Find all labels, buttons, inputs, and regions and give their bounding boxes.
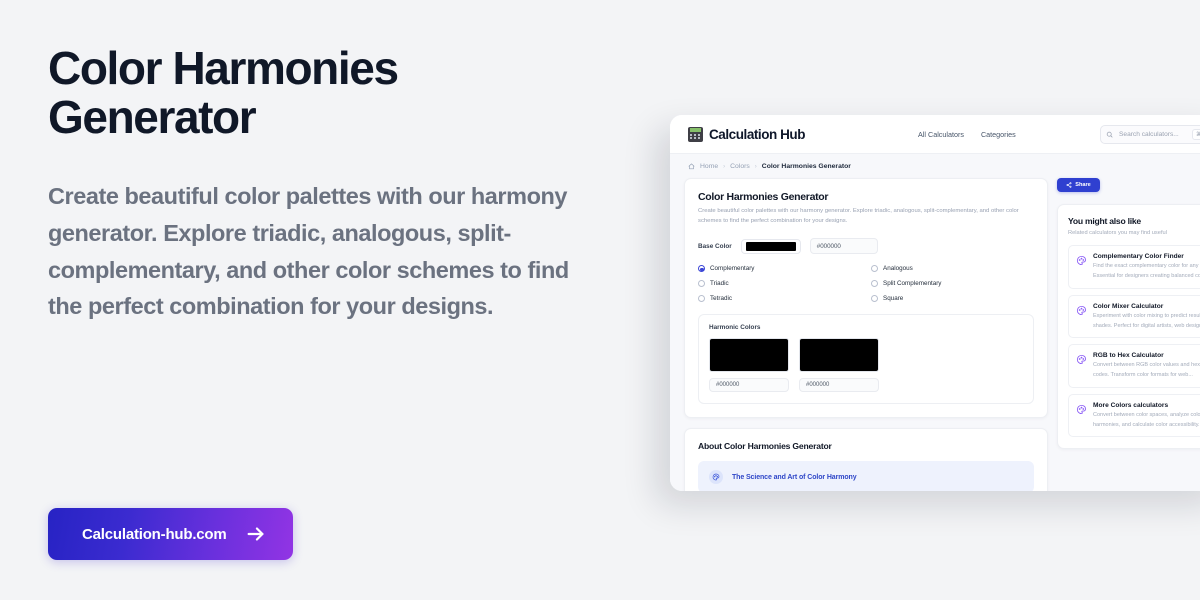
related-item-body: More Colors calculators Convert between … bbox=[1093, 402, 1200, 430]
radio-indicator bbox=[871, 295, 878, 302]
harmonic-colors-panel: Harmonic Colors #000000 #000000 bbox=[698, 314, 1034, 404]
search-shortcut-badge: ⌘K bbox=[1192, 129, 1200, 140]
harmonic-color-item: #000000 bbox=[709, 338, 789, 392]
related-item-body: Complementary Color Finder Find the exac… bbox=[1093, 253, 1200, 281]
related-item-name: Color Mixer Calculator bbox=[1093, 303, 1200, 310]
related-item-more-colors-calculators[interactable]: More Colors calculators Convert between … bbox=[1068, 394, 1200, 438]
related-item-name: Complementary Color Finder bbox=[1093, 253, 1200, 260]
radio-indicator bbox=[698, 265, 705, 272]
related-item-rgb-to-hex-calculator[interactable]: RGB to Hex Calculator Convert between RG… bbox=[1068, 344, 1200, 388]
harmonic-color-hex[interactable]: #000000 bbox=[709, 378, 789, 392]
page-subtitle: Create beautiful color palettes with our… bbox=[48, 178, 596, 325]
radio-indicator bbox=[698, 280, 705, 287]
radio-label: Tetradic bbox=[710, 295, 732, 302]
harmonic-colors-title: Harmonic Colors bbox=[709, 324, 1023, 331]
harmonic-color-swatch[interactable] bbox=[709, 338, 789, 372]
cta-label: Calculation-hub.com bbox=[82, 526, 227, 543]
radio-label: Triadic bbox=[710, 280, 729, 287]
related-item-body: Color Mixer Calculator Experiment with c… bbox=[1093, 303, 1200, 331]
search-icon bbox=[1106, 131, 1113, 138]
nav-item-all-calculators[interactable]: All Calculators bbox=[918, 130, 964, 139]
breadcrumb: Home › Colors › Color Harmonies Generato… bbox=[670, 154, 1200, 178]
generator-title: Color Harmonies Generator bbox=[698, 191, 1034, 203]
page-body: Color Harmonies Generator Create beautif… bbox=[670, 178, 1200, 491]
palette-icon bbox=[1076, 255, 1087, 266]
related-item-desc-line: harmonies, and calculate color accessibi… bbox=[1093, 421, 1200, 429]
related-item-name: More Colors calculators bbox=[1093, 402, 1200, 409]
site-logo[interactable]: Calculation Hub bbox=[688, 127, 805, 142]
logo-text: Calculation Hub bbox=[709, 127, 805, 142]
scheme-radio-group: Complementary Analogous Triadic Spl bbox=[698, 265, 1034, 302]
main-column: Color Harmonies Generator Create beautif… bbox=[684, 178, 1048, 491]
harmonic-color-swatch[interactable] bbox=[799, 338, 879, 372]
share-button-label: Share bbox=[1075, 182, 1091, 188]
about-panel-label: The Science and Art of Color Harmony bbox=[732, 474, 857, 481]
search-input[interactable]: Search calculators... ⌘K bbox=[1100, 125, 1200, 144]
nav-item-categories[interactable]: Categories bbox=[981, 130, 1016, 139]
base-color-picker[interactable] bbox=[741, 239, 801, 254]
radio-option-analogous[interactable]: Analogous bbox=[871, 265, 1034, 272]
share-button[interactable]: Share bbox=[1057, 178, 1100, 192]
radio-label: Analogous bbox=[883, 265, 913, 272]
related-item-desc-line: Essential for designers creating balance… bbox=[1093, 272, 1200, 280]
breadcrumb-item-home[interactable]: Home bbox=[700, 163, 718, 170]
harmonic-color-hex[interactable]: #000000 bbox=[799, 378, 879, 392]
radio-indicator bbox=[871, 265, 878, 272]
base-color-hex-input[interactable]: #000000 bbox=[810, 238, 878, 254]
search-placeholder: Search calculators... bbox=[1119, 131, 1179, 138]
arrow-right-icon bbox=[245, 523, 267, 545]
related-item-color-mixer-calculator[interactable]: Color Mixer Calculator Experiment with c… bbox=[1068, 295, 1200, 339]
radio-option-complementary[interactable]: Complementary bbox=[698, 265, 861, 272]
related-item-desc-line: Convert between RGB color values and hex… bbox=[1093, 361, 1200, 369]
about-title: About Color Harmonies Generator bbox=[698, 441, 1034, 451]
about-highlight-panel[interactable]: The Science and Art of Color Harmony bbox=[698, 461, 1034, 491]
breadcrumb-separator: › bbox=[755, 164, 757, 170]
radio-option-tetradic[interactable]: Tetradic bbox=[698, 295, 861, 302]
base-color-swatch bbox=[746, 242, 796, 251]
site-header: Calculation Hub All Calculators Categori… bbox=[670, 115, 1200, 154]
page-title: Color Harmonies Generator bbox=[48, 44, 468, 142]
related-item-desc-line: Convert between color spaces, analyze co… bbox=[1093, 411, 1200, 419]
radio-label: Split Complementary bbox=[883, 280, 941, 287]
related-subtitle: Related calculators you may find useful bbox=[1068, 230, 1200, 236]
harmonic-colors-row: #000000 #000000 bbox=[709, 338, 1023, 392]
related-list: Complementary Color Finder Find the exac… bbox=[1068, 245, 1200, 437]
app-screenshot-mockup: Calculation Hub All Calculators Categori… bbox=[670, 115, 1200, 491]
about-card: About Color Harmonies Generator The Scie… bbox=[684, 428, 1048, 491]
related-item-desc-line: shades. Perfect for digital artists, web… bbox=[1093, 322, 1200, 330]
radio-indicator bbox=[871, 280, 878, 287]
palette-icon-wrapper bbox=[709, 470, 723, 484]
related-title: You might also like bbox=[1068, 216, 1200, 226]
harmonic-color-item: #000000 bbox=[799, 338, 879, 392]
home-icon bbox=[688, 163, 695, 170]
share-nodes-icon bbox=[1066, 182, 1072, 188]
sidebar-column: Share You might also like Related calcul… bbox=[1057, 178, 1200, 491]
palette-icon bbox=[712, 473, 720, 481]
palette-icon bbox=[1076, 305, 1087, 316]
promo-panel: Color Harmonies Generator Create beautif… bbox=[48, 44, 628, 325]
radio-label: Complementary bbox=[710, 265, 754, 272]
radio-label: Square bbox=[883, 295, 903, 302]
related-item-desc-line: Find the exact complementary color for a… bbox=[1093, 262, 1200, 270]
generator-description: Create beautiful color palettes with our… bbox=[698, 207, 1034, 226]
breadcrumb-item-colors[interactable]: Colors bbox=[730, 163, 750, 170]
related-calculators-card: You might also like Related calculators … bbox=[1057, 204, 1200, 449]
related-item-name: RGB to Hex Calculator bbox=[1093, 352, 1200, 359]
base-color-label: Base Color bbox=[698, 243, 732, 250]
breadcrumb-separator: › bbox=[723, 164, 725, 170]
main-nav: All Calculators Categories bbox=[918, 130, 1016, 139]
mockup-viewport: Calculation Hub All Calculators Categori… bbox=[670, 115, 1200, 491]
related-item-body: RGB to Hex Calculator Convert between RG… bbox=[1093, 352, 1200, 380]
related-item-desc-line: Experiment with color mixing to predict … bbox=[1093, 312, 1200, 320]
palette-icon bbox=[1076, 354, 1087, 365]
cta-button[interactable]: Calculation-hub.com bbox=[48, 508, 293, 560]
radio-option-square[interactable]: Square bbox=[871, 295, 1034, 302]
radio-indicator bbox=[698, 295, 705, 302]
generator-card: Color Harmonies Generator Create beautif… bbox=[684, 178, 1048, 418]
related-item-complementary-color-finder[interactable]: Complementary Color Finder Find the exac… bbox=[1068, 245, 1200, 289]
breadcrumb-item-current: Color Harmonies Generator bbox=[762, 163, 851, 170]
calculator-icon bbox=[688, 127, 703, 142]
palette-icon bbox=[1076, 404, 1087, 415]
base-color-row: Base Color #000000 bbox=[698, 238, 1034, 254]
related-item-desc-line: codes. Transform color formats for web..… bbox=[1093, 371, 1200, 379]
radio-option-triadic[interactable]: Triadic bbox=[698, 280, 861, 287]
radio-option-split-complementary[interactable]: Split Complementary bbox=[871, 280, 1034, 287]
